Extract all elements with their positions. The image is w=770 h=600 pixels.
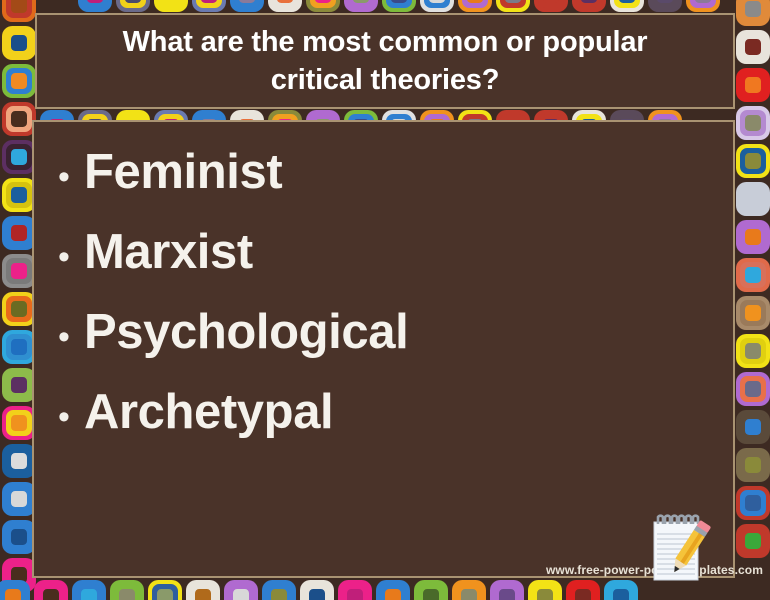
notepad-pencil-icon <box>648 512 716 584</box>
border-tile-top <box>192 0 226 12</box>
border-tile-bottom <box>376 580 410 600</box>
border-tile-left <box>2 520 36 554</box>
border-tile-top <box>610 0 644 12</box>
border-tile-bottom <box>604 580 638 600</box>
border-tile-top <box>458 0 492 12</box>
slide-canvas: What are the most common or popular crit… <box>0 0 770 600</box>
border-tile-top <box>420 0 454 12</box>
border-tile-bottom <box>300 580 334 600</box>
border-tile-left <box>2 330 36 364</box>
border-tile-left <box>2 140 36 174</box>
border-tile-bottom <box>528 580 562 600</box>
list-item-label: Archetypal <box>84 388 333 438</box>
border-tile-bottom <box>566 580 600 600</box>
bullet-marker-icon: • <box>58 400 84 434</box>
border-tile-top <box>496 0 530 12</box>
border-tile-top <box>382 0 416 12</box>
border-tile-top <box>268 0 302 12</box>
border-tile-left <box>2 292 36 326</box>
border-tile-left <box>2 254 36 288</box>
border-tile-top <box>306 0 340 12</box>
border-tile-right <box>736 0 770 26</box>
border-tile-top <box>686 0 720 12</box>
border-tile-left <box>2 102 36 136</box>
border-tile-right <box>736 486 770 520</box>
border-tile-left <box>2 26 36 60</box>
border-tile-left <box>2 368 36 402</box>
border-tile-left <box>2 178 36 212</box>
border-tile-bottom <box>338 580 372 600</box>
border-tile-bottom <box>186 580 220 600</box>
border-tile-top <box>78 0 112 12</box>
border-tile-bottom <box>414 580 448 600</box>
border-tile-bottom <box>262 580 296 600</box>
list-item-label: Psychological <box>84 308 408 358</box>
list-item: •Psychological <box>50 308 713 358</box>
border-tile-right <box>736 372 770 406</box>
border-tile-left <box>2 444 36 478</box>
border-tile-left <box>2 482 36 516</box>
border-tile-right <box>736 448 770 482</box>
border-tile-right <box>736 220 770 254</box>
border-tile-top <box>572 0 606 12</box>
border-tile-right <box>736 68 770 102</box>
list-item: •Archetypal <box>50 388 713 438</box>
border-tile-bottom <box>490 580 524 600</box>
border-tile-bottom <box>0 580 30 600</box>
border-tile-bottom <box>110 580 144 600</box>
border-tile-right <box>736 30 770 64</box>
border-tile-bottom <box>72 580 106 600</box>
border-tile-left <box>2 64 36 98</box>
list-item-label: Marxist <box>84 228 253 278</box>
border-tile-left <box>2 216 36 250</box>
border-tile-bottom <box>34 580 68 600</box>
border-tile-right <box>736 296 770 330</box>
list-item: •Marxist <box>50 228 713 278</box>
border-tile-right <box>736 106 770 140</box>
border-tile-left <box>2 0 36 22</box>
border-tile-bottom <box>452 580 486 600</box>
list-item: •Feminist <box>50 148 713 198</box>
border-tile-top <box>534 0 568 12</box>
border-tile-right <box>736 334 770 368</box>
bullet-list: •Feminist•Marxist•Psychological•Archetyp… <box>50 148 713 438</box>
border-tile-right <box>736 258 770 292</box>
border-tile-top <box>344 0 378 12</box>
page-title: What are the most common or popular crit… <box>75 23 695 100</box>
bullet-marker-icon: • <box>58 160 84 194</box>
list-item-label: Feminist <box>84 148 282 198</box>
content-panel: •Feminist•Marxist•Psychological•Archetyp… <box>32 120 735 578</box>
title-panel: What are the most common or popular crit… <box>35 13 735 109</box>
border-tile-bottom <box>148 580 182 600</box>
bullet-marker-icon: • <box>58 240 84 274</box>
border-tile-top <box>116 0 150 12</box>
border-tile-top <box>154 0 188 12</box>
border-tile-right <box>736 524 770 558</box>
border-tile-left <box>2 406 36 440</box>
border-tile-bottom <box>224 580 258 600</box>
border-tile-right <box>736 144 770 178</box>
bullet-marker-icon: • <box>58 320 84 354</box>
border-tile-top <box>230 0 264 12</box>
border-tile-right <box>736 410 770 444</box>
border-tile-right <box>736 182 770 216</box>
border-tile-top <box>648 0 682 12</box>
